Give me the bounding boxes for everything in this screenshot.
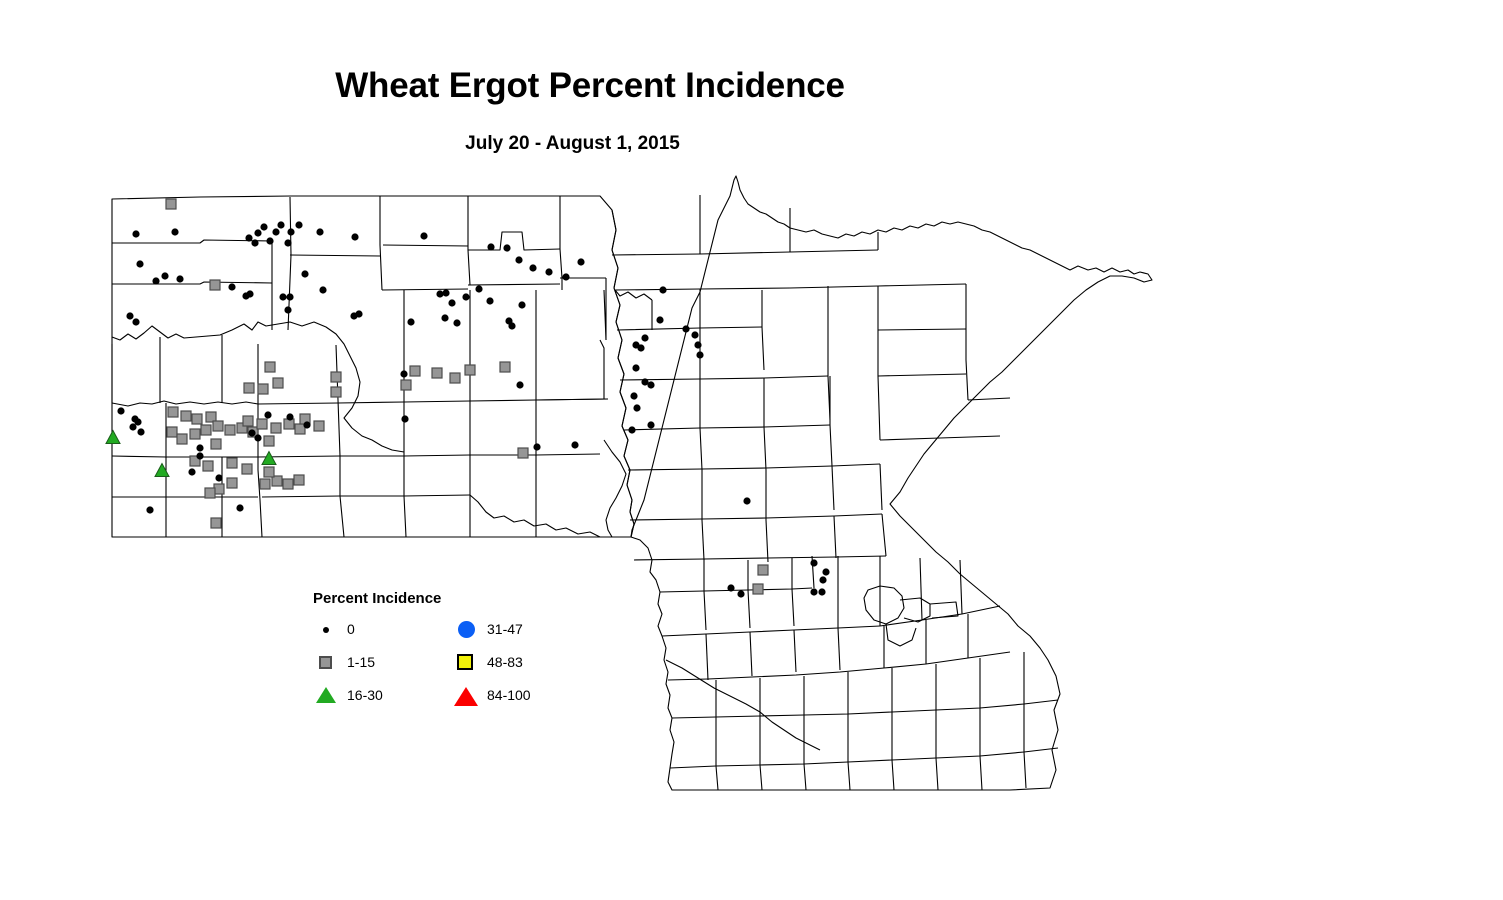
small-dot-icon: [313, 620, 343, 640]
data-point-1-15: [450, 373, 460, 383]
data-point-0: [264, 411, 271, 418]
data-point-0: [286, 293, 293, 300]
data-point-0: [647, 381, 654, 388]
data-point-0: [737, 590, 744, 597]
green-triangle-icon: [313, 686, 343, 706]
legend-label-31-47: 31-47: [487, 621, 523, 637]
data-point-0: [533, 443, 540, 450]
data-point-0: [215, 474, 222, 481]
data-point-1-15: [331, 372, 341, 382]
data-point-0: [641, 334, 648, 341]
legend-label-16-30: 16-30: [347, 687, 383, 703]
data-point-0: [303, 421, 310, 428]
data-point-1-15: [465, 365, 475, 375]
data-point-1-15: [167, 427, 177, 437]
data-point-0: [656, 316, 663, 323]
data-point-1-15: [264, 436, 274, 446]
data-point-1-15: [271, 423, 281, 433]
data-point-1-15: [168, 407, 178, 417]
data-point-0: [436, 290, 443, 297]
data-point-0: [691, 331, 698, 338]
data-point-1-15: [273, 378, 283, 388]
data-point-0: [161, 272, 168, 279]
data-point-1-15: [227, 478, 237, 488]
data-point-1-15: [177, 434, 187, 444]
data-point-0: [260, 223, 267, 230]
data-point-0: [196, 444, 203, 451]
data-point-0: [571, 441, 578, 448]
data-point-0: [245, 234, 252, 241]
data-point-1-15: [211, 518, 221, 528]
data-point-0: [442, 289, 449, 296]
data-point-0: [630, 392, 637, 399]
data-point-0: [682, 325, 689, 332]
map-canvas: [0, 0, 1503, 900]
data-point-0: [516, 381, 523, 388]
data-point-1-15: [518, 448, 528, 458]
data-point-1-15: [284, 419, 294, 429]
data-point-0: [810, 588, 817, 595]
data-point-0: [132, 230, 139, 237]
data-point-1-15: [225, 425, 235, 435]
data-point-0: [272, 228, 279, 235]
data-point-16-30: [262, 452, 276, 465]
data-point-1-15: [258, 384, 268, 394]
blue-circle-icon: [453, 620, 483, 640]
legend-title: Percent Incidence: [313, 590, 441, 607]
data-point-0: [316, 228, 323, 235]
data-point-0: [284, 239, 291, 246]
data-point-0: [152, 277, 159, 284]
data-point-0: [647, 421, 654, 428]
data-point-1-15: [242, 464, 252, 474]
data-point-1-15: [181, 411, 191, 421]
data-point-1-15: [166, 199, 176, 209]
data-point-1-15: [227, 458, 237, 468]
data-point-0: [254, 229, 261, 236]
data-point-0: [628, 426, 635, 433]
yellow-square-icon: [453, 653, 483, 673]
data-point-0: [351, 233, 358, 240]
data-point-0: [694, 341, 701, 348]
data-point-1-15: [410, 366, 420, 376]
data-point-layer: [106, 199, 830, 598]
data-point-1-15: [257, 419, 267, 429]
data-point-0: [117, 407, 124, 414]
data-point-0: [137, 428, 144, 435]
data-point-1-15: [244, 383, 254, 393]
data-point-0: [295, 221, 302, 228]
data-point-0: [407, 318, 414, 325]
data-point-0: [448, 299, 455, 306]
data-point-1-15: [260, 479, 270, 489]
data-point-1-15: [211, 439, 221, 449]
data-point-0: [176, 275, 183, 282]
data-point-1-15: [213, 421, 223, 431]
data-point-0: [822, 568, 829, 575]
data-point-1-15: [432, 368, 442, 378]
data-point-0: [486, 297, 493, 304]
data-point-0: [515, 256, 522, 263]
data-point-0: [743, 497, 750, 504]
data-point-1-15: [205, 488, 215, 498]
data-point-0: [441, 314, 448, 321]
data-point-0: [319, 286, 326, 293]
data-point-1-15: [243, 416, 253, 426]
data-point-0: [248, 429, 255, 436]
data-point-1-15: [294, 475, 304, 485]
data-point-0: [126, 312, 133, 319]
legend: Percent Incidence 0 1-15 16-30 31-47: [313, 590, 573, 720]
data-point-0: [420, 232, 427, 239]
legend-label-0: 0: [347, 621, 355, 637]
data-point-0: [577, 258, 584, 265]
data-point-0: [171, 228, 178, 235]
data-point-0: [659, 286, 666, 293]
legend-label-84-100: 84-100: [487, 687, 531, 703]
data-point-1-15: [283, 479, 293, 489]
data-point-0: [475, 285, 482, 292]
data-point-0: [301, 270, 308, 277]
data-point-0: [146, 506, 153, 513]
data-point-1-15: [203, 461, 213, 471]
data-point-0: [562, 273, 569, 280]
data-point-0: [254, 434, 261, 441]
data-point-1-15: [265, 362, 275, 372]
data-point-0: [818, 588, 825, 595]
data-point-0: [132, 318, 139, 325]
data-point-1-15: [753, 584, 763, 594]
data-point-1-15: [201, 425, 211, 435]
data-point-16-30: [106, 431, 120, 444]
data-point-0: [236, 504, 243, 511]
data-point-0: [545, 268, 552, 275]
data-point-0: [266, 237, 273, 244]
data-point-0: [188, 468, 195, 475]
data-point-1-15: [331, 387, 341, 397]
map-figure: Wheat Ergot Percent Incidence July 20 - …: [0, 0, 1503, 900]
data-point-0: [810, 559, 817, 566]
legend-label-48-83: 48-83: [487, 654, 523, 670]
legend-label-1-15: 1-15: [347, 654, 375, 670]
data-point-0: [503, 244, 510, 251]
data-point-16-30: [155, 464, 169, 477]
gray-square-icon: [313, 653, 343, 673]
data-point-0: [637, 344, 644, 351]
map-svg: [0, 0, 1503, 900]
data-point-0: [246, 290, 253, 297]
data-point-0: [228, 283, 235, 290]
data-point-0: [529, 264, 536, 271]
data-point-0: [136, 260, 143, 267]
data-point-0: [134, 418, 141, 425]
data-point-0: [632, 364, 639, 371]
data-point-0: [453, 319, 460, 326]
data-point-1-15: [264, 467, 274, 477]
data-point-1-15: [500, 362, 510, 372]
data-point-0: [487, 243, 494, 250]
data-point-1-15: [401, 380, 411, 390]
data-point-0: [355, 310, 362, 317]
data-point-1-15: [314, 421, 324, 431]
data-point-0: [284, 306, 291, 313]
data-point-0: [401, 415, 408, 422]
data-point-0: [633, 404, 640, 411]
red-triangle-icon: [453, 686, 483, 706]
data-point-0: [279, 293, 286, 300]
data-point-0: [400, 370, 407, 377]
data-point-0: [696, 351, 703, 358]
data-point-0: [727, 584, 734, 591]
data-point-1-15: [192, 414, 202, 424]
data-point-0: [508, 322, 515, 329]
data-point-1-15: [210, 280, 220, 290]
data-point-0: [277, 221, 284, 228]
data-point-1-15: [190, 429, 200, 439]
data-point-0: [196, 452, 203, 459]
data-point-0: [518, 301, 525, 308]
data-point-0: [819, 576, 826, 583]
data-point-0: [251, 239, 258, 246]
data-point-1-15: [758, 565, 768, 575]
data-point-0: [286, 413, 293, 420]
data-point-0: [462, 293, 469, 300]
data-point-0: [287, 228, 294, 235]
